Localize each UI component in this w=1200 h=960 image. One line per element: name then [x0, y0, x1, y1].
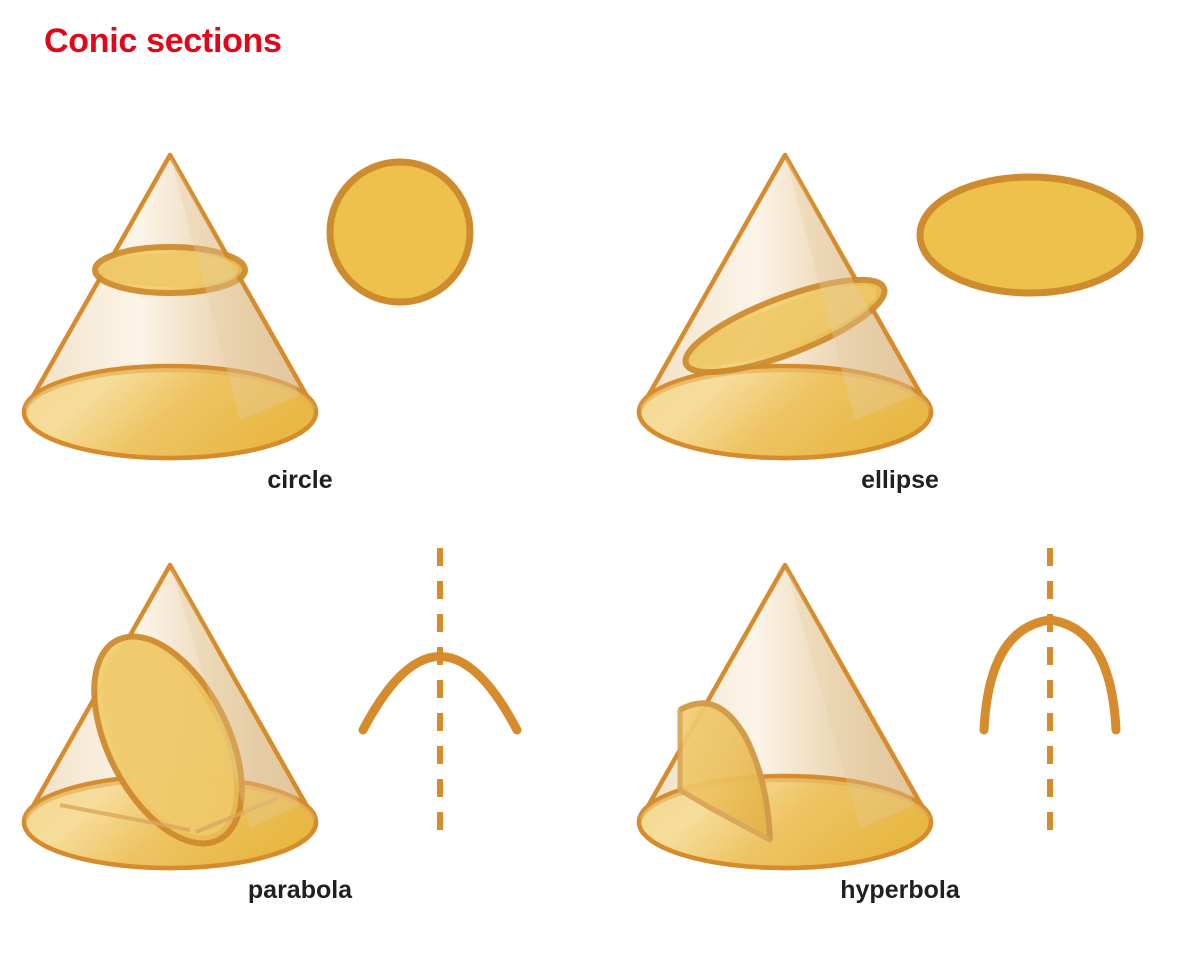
parabola-curve	[363, 548, 517, 840]
ellipse-shape	[920, 177, 1140, 293]
panel-label-parabola: parabola	[0, 876, 600, 905]
panel-label-circle: circle	[0, 466, 600, 495]
panel-parabola: parabola	[0, 540, 600, 940]
cone-circle	[24, 155, 316, 458]
panel-circle-figure	[0, 130, 600, 470]
panel-hyperbola-figure	[600, 540, 1200, 880]
panel-hyperbola: hyperbola	[600, 540, 1200, 940]
panel-parabola-figure	[0, 540, 600, 880]
panel-ellipse: ellipse	[600, 130, 1200, 530]
page-title: Conic sections	[44, 22, 282, 61]
panel-label-hyperbola: hyperbola	[600, 876, 1200, 905]
cone-hyperbola	[639, 565, 931, 868]
cone-parabola	[24, 565, 316, 868]
panel-label-ellipse: ellipse	[600, 466, 1200, 495]
panel-ellipse-figure	[600, 130, 1200, 470]
conic-sections-figure: Conic sections	[0, 0, 1200, 960]
cone-ellipse	[639, 155, 931, 458]
panel-circle: circle	[0, 130, 600, 530]
circle-shape	[330, 162, 470, 302]
hyperbola-curve	[984, 548, 1116, 840]
